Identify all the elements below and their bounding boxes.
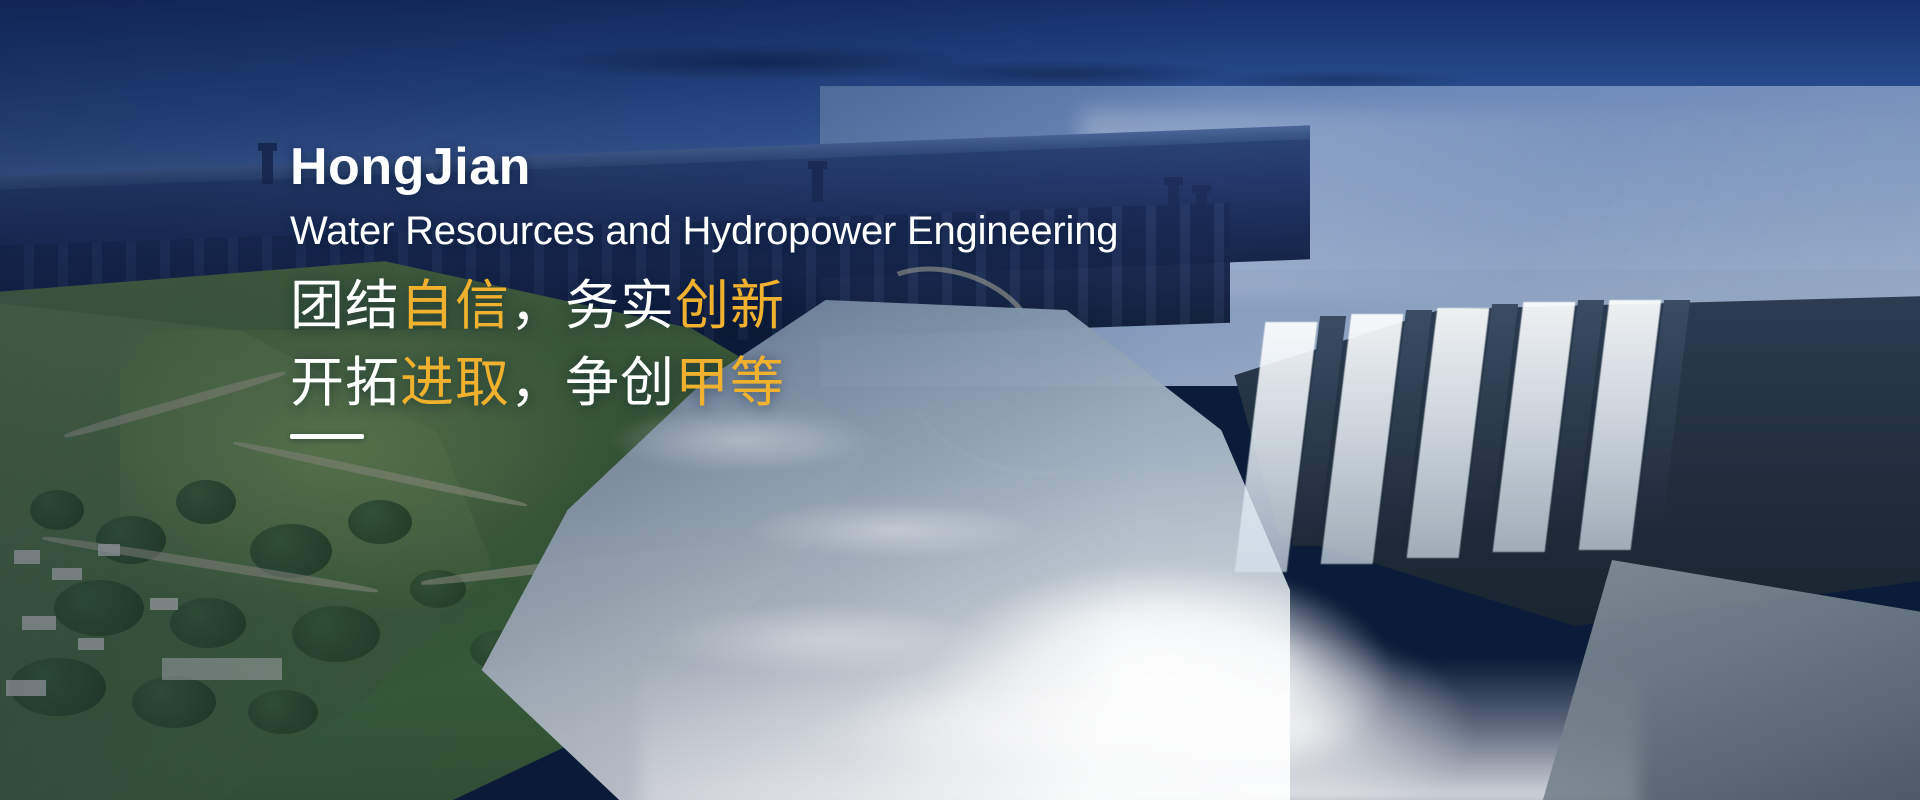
brand-subtitle: Water Resources and Hydropower Engineeri… xyxy=(290,209,1490,254)
hero-banner: HongJian Water Resources and Hydropower … xyxy=(0,0,1920,800)
slogan-segment: ，争创 xyxy=(510,353,675,413)
slogan-segment-accent: 创新 xyxy=(675,276,785,336)
slogan-segment: 团结 xyxy=(290,276,400,336)
slogan-line-2: 开拓进取，争创甲等 xyxy=(290,346,1490,421)
brand-title: HongJian xyxy=(290,140,1490,195)
slogan-line-1: 团结自信，务实创新 xyxy=(290,269,1490,344)
slogan-segment-accent: 甲等 xyxy=(675,353,785,413)
slogan-segment-accent: 自信 xyxy=(400,276,510,336)
slogan-segment-accent: 进取 xyxy=(400,353,510,413)
hero-text-overlay: HongJian Water Resources and Hydropower … xyxy=(290,140,1490,439)
slogan-segment: ，务实 xyxy=(510,276,675,336)
slogan-segment: 开拓 xyxy=(290,353,400,413)
accent-rule xyxy=(290,434,364,439)
